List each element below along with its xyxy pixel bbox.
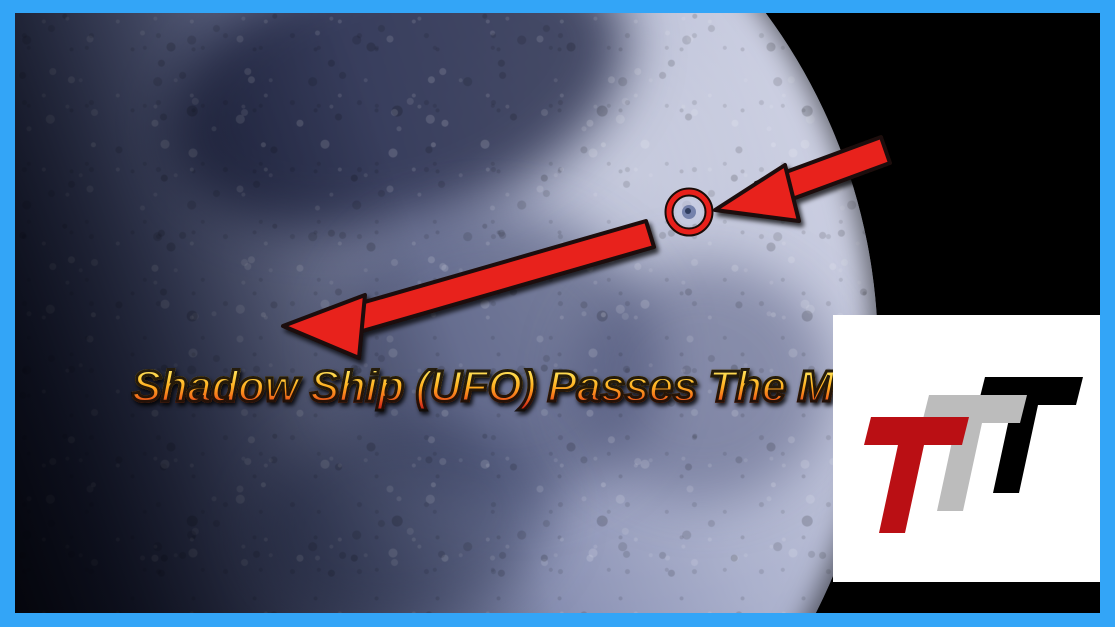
ttt-logo-icon <box>833 315 1100 582</box>
moon-image <box>15 13 878 613</box>
thumbnail-frame: Shadow Ship (UFO) Passes The M <box>0 0 1115 627</box>
video-area[interactable]: Shadow Ship (UFO) Passes The M <box>15 13 1100 613</box>
thumbnail-title-text: Shadow Ship (UFO) Passes The M <box>132 365 834 409</box>
thumbnail-title: Shadow Ship (UFO) Passes The M <box>132 365 834 409</box>
limb-darkening <box>15 13 878 613</box>
channel-logo[interactable] <box>833 315 1100 582</box>
